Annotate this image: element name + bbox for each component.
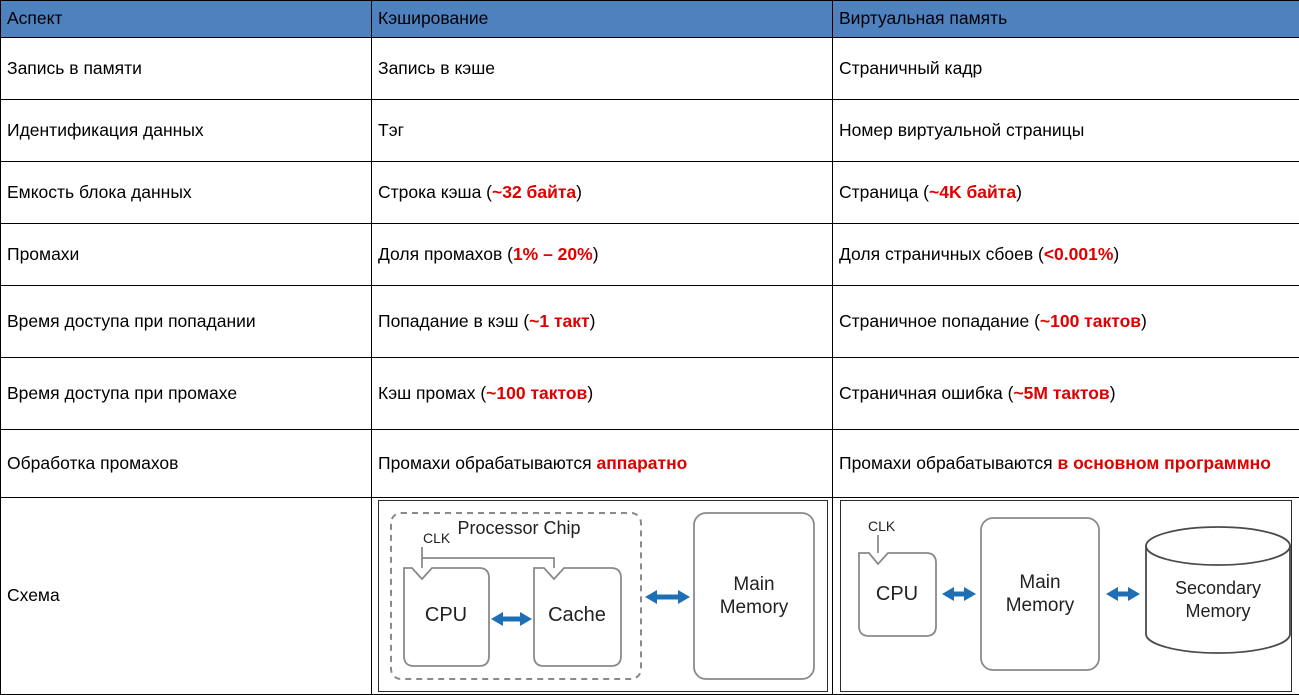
secondary-memory-label-line1: Secondary: [1175, 578, 1261, 598]
cell-aspect: Емкость блока данных: [1, 162, 372, 224]
cell-text: Строка кэша (: [378, 182, 492, 202]
main-memory-label-line2: Memory: [720, 597, 789, 618]
cell-virtual: Страничное попадание (~100 тактов): [833, 286, 1299, 358]
cell-virtual: Доля страничных сбоев (<0.001%): [833, 224, 1299, 286]
main-memory-box: [981, 518, 1099, 670]
cell-virtual: Страничная ошибка (~5М тактов): [833, 358, 1299, 430]
table-row: Время доступа при попадании Попадание в …: [1, 286, 1299, 358]
table-row: Время доступа при промахе Кэш промах (~1…: [1, 358, 1299, 430]
cell-caching: Запись в кэше: [372, 38, 833, 100]
cell-caching: Попадание в кэш (~1 такт): [372, 286, 833, 358]
cell-vm-diagram: CLK CPU Main Memory: [833, 498, 1299, 695]
header-caching: Кэширование: [372, 1, 833, 38]
cell-virtual: Промахи обрабатываются в основном програ…: [833, 430, 1299, 498]
main-memory-label-line1: Main: [1019, 572, 1060, 593]
cpu-label: CPU: [425, 604, 467, 626]
cell-caching: Кэш промах (~100 тактов): [372, 358, 833, 430]
processor-chip-label: Processor Chip: [457, 518, 580, 538]
cell-aspect: Идентификация данных: [1, 100, 372, 162]
clk-label: CLK: [868, 518, 896, 534]
main-memory-box: [694, 513, 814, 679]
cell-tail: ): [1141, 311, 1147, 331]
cell-highlight: ~1 такт: [529, 311, 589, 331]
cell-text: Промахи обрабатываются: [839, 453, 1057, 473]
cell-text: Запись в кэше: [378, 58, 495, 78]
header-aspect: Аспект: [1, 1, 372, 38]
main-memory-label-line1: Main: [733, 574, 774, 595]
cell-tail: ): [576, 182, 582, 202]
table-row: Емкость блока данных Строка кэша (~32 ба…: [1, 162, 1299, 224]
table-header-row: Аспект Кэширование Виртуальная память: [1, 1, 1299, 38]
main-memory-label-line2: Memory: [1006, 595, 1075, 616]
cell-aspect: Обработка промахов: [1, 430, 372, 498]
cell-text: Тэг: [378, 120, 404, 140]
cell-tail: ): [1113, 244, 1119, 264]
cell-text: Страничный кадр: [839, 58, 982, 78]
secondary-memory-label-line2: Memory: [1185, 601, 1250, 621]
header-virtual-memory: Виртуальная память: [833, 1, 1299, 38]
cell-virtual: Номер виртуальной страницы: [833, 100, 1299, 162]
cell-highlight: в основном программно: [1057, 453, 1270, 473]
cell-tail: ): [590, 311, 596, 331]
cell-highlight: ~5М тактов: [1013, 383, 1109, 403]
cell-text: Доля промахов (: [378, 244, 513, 264]
cell-virtual: Страничный кадр: [833, 38, 1299, 100]
virtual-memory-architecture-diagram: CLK CPU Main Memory: [840, 500, 1292, 692]
cpu-label: CPU: [876, 583, 918, 605]
table-row-diagram: Схема Processor Chip CLK CPU: [1, 498, 1299, 695]
cache-architecture-diagram: Processor Chip CLK CPU Cache: [378, 500, 828, 692]
cell-tail: ): [587, 383, 593, 403]
cell-tail: ): [1110, 383, 1116, 403]
cell-highlight: аппаратно: [596, 453, 687, 473]
cell-highlight: 1% – 20%: [513, 244, 593, 264]
cell-text: Страница (: [839, 182, 929, 202]
cache-label: Cache: [548, 604, 606, 626]
comparison-table: Аспект Кэширование Виртуальная память За…: [0, 0, 1299, 695]
cell-text: Попадание в кэш (: [378, 311, 529, 331]
clk-label: CLK: [423, 530, 451, 546]
table-row: Промахи Доля промахов (1% – 20%) Доля ст…: [1, 224, 1299, 286]
cell-text: Номер виртуальной страницы: [839, 120, 1084, 140]
table-row: Идентификация данных Тэг Номер виртуальн…: [1, 100, 1299, 162]
cell-caching: Доля промахов (1% – 20%): [372, 224, 833, 286]
cell-tail: ): [593, 244, 599, 264]
cell-cache-diagram: Processor Chip CLK CPU Cache: [372, 498, 833, 695]
cell-text: Промахи обрабатываются: [378, 453, 596, 473]
table-row: Запись в памяти Запись в кэше Страничный…: [1, 38, 1299, 100]
cell-text: Кэш промах (: [378, 383, 486, 403]
cell-caching: Строка кэша (~32 байта): [372, 162, 833, 224]
cell-highlight: ~100 тактов: [1040, 311, 1141, 331]
cell-aspect: Запись в памяти: [1, 38, 372, 100]
cell-virtual: Страница (~4K байта): [833, 162, 1299, 224]
cell-highlight: ~100 тактов: [486, 383, 587, 403]
cell-highlight: <0.001%: [1044, 244, 1114, 264]
cell-tail: ): [1016, 182, 1022, 202]
cell-aspect-diagram: Схема: [1, 498, 372, 695]
cell-text: Доля страничных сбоев (: [839, 244, 1044, 264]
cell-text: Страничная ошибка (: [839, 383, 1013, 403]
cell-text: Страничное попадание (: [839, 311, 1040, 331]
cell-aspect: Промахи: [1, 224, 372, 286]
cell-caching: Промахи обрабатываются аппаратно: [372, 430, 833, 498]
table-row: Обработка промахов Промахи обрабатываютс…: [1, 430, 1299, 498]
cell-highlight: ~32 байта: [492, 182, 576, 202]
cell-highlight: ~4K байта: [929, 182, 1016, 202]
cell-aspect: Время доступа при попадании: [1, 286, 372, 358]
cell-aspect: Время доступа при промахе: [1, 358, 372, 430]
cell-caching: Тэг: [372, 100, 833, 162]
